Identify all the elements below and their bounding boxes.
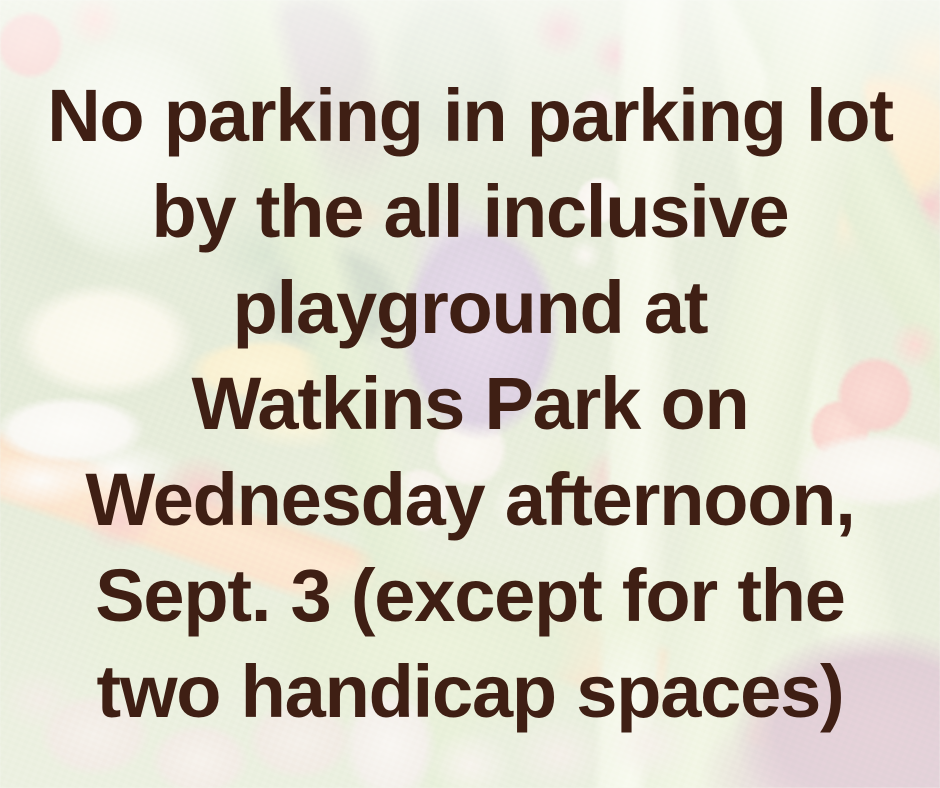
headline-line-6: Sept. 3 (except for the <box>8 548 932 644</box>
headline-line-5: Wednesday afternoon, <box>8 452 932 548</box>
headline-line-1: No parking in parking lot <box>8 68 932 164</box>
announcement-headline: No parking in parking lot by the all inc… <box>0 68 940 740</box>
headline-line-7: two handicap spaces) <box>8 644 932 740</box>
announcement-graphic: No parking in parking lot by the all inc… <box>0 0 940 788</box>
headline-line-3: playground at <box>8 260 932 356</box>
headline-line-4: Watkins Park on <box>8 356 932 452</box>
headline-line-2: by the all inclusive <box>8 164 932 260</box>
